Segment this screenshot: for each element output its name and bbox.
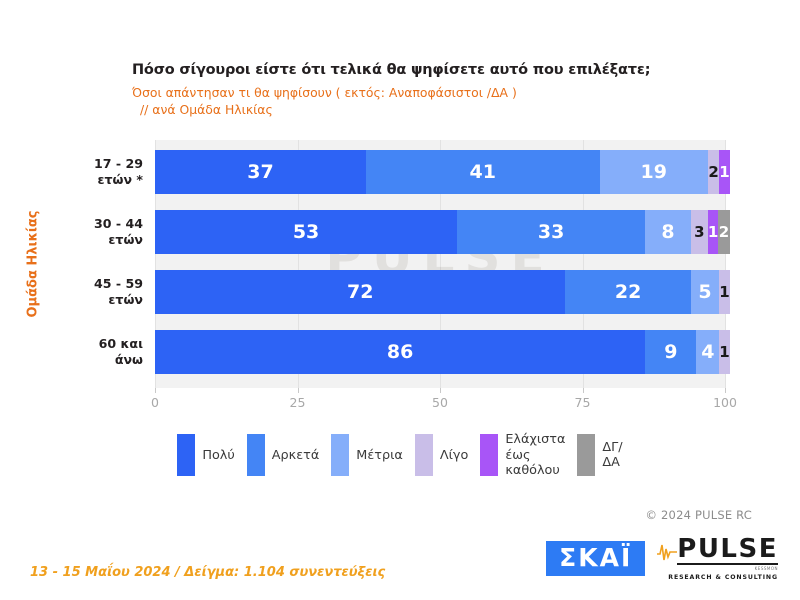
bar-segment-value: 72: [347, 283, 373, 302]
pulse-kessmon-text: KESSMON: [755, 566, 778, 571]
legend-swatch: [247, 434, 265, 476]
chart-legend: ΠολύΑρκετάΜέτριαΛίγοΕλάχιστα έως καθόλου…: [0, 432, 800, 479]
bar-segment[interactable]: 9: [645, 330, 696, 374]
bar-segment-value: 2: [708, 165, 718, 180]
bar-segment-value: 53: [293, 223, 319, 242]
legend-label: Πολύ: [202, 448, 234, 464]
chart-subtitle: Όσοι απάντησαν τι θα ψηφίσουν ( εκτός: Α…: [132, 85, 752, 102]
bar-segment[interactable]: 5: [691, 270, 720, 314]
bar-row: 722251: [155, 270, 725, 314]
bar-segment[interactable]: 33: [457, 210, 645, 254]
plot-area: PULSE RESEARCH & CONSULTING 374119215333…: [155, 140, 725, 388]
bar-segment[interactable]: 37: [155, 150, 366, 194]
legend-label: Ελάχιστα έως καθόλου: [505, 432, 565, 479]
bar-segment-value: 86: [387, 343, 413, 362]
bar-segment-value: 1: [719, 345, 729, 360]
y-axis-category-label: 17 - 29ετών *: [23, 156, 143, 187]
bar-segment-value: 9: [664, 343, 677, 362]
y-axis-category-label: 60 καιάνω: [23, 336, 143, 367]
bar-segment-value: 1: [708, 225, 718, 240]
bar-segment[interactable]: 72: [155, 270, 565, 314]
pulse-wordmark: PULSE: [677, 536, 778, 565]
bar-segment[interactable]: 2: [708, 150, 719, 194]
legend-item[interactable]: Ελάχιστα έως καθόλου: [480, 432, 565, 479]
bar-track: 86941: [155, 330, 725, 374]
title-block: Πόσο σίγουροι είστε ότι τελικά θα ψηφίσε…: [132, 62, 752, 118]
bar-segment-value: 1: [719, 165, 729, 180]
x-tick-label: 0: [151, 395, 159, 410]
legend-item[interactable]: Αρκετά: [247, 434, 319, 476]
pulse-waveform-icon: [657, 538, 677, 564]
bar-segment-value: 19: [641, 163, 667, 182]
legend-swatch: [331, 434, 349, 476]
pulse-logo-main: PULSE: [657, 536, 778, 565]
pulse-tagline: RESEARCH & CONSULTING: [668, 574, 778, 581]
legend-item[interactable]: Λίγο: [415, 434, 469, 476]
bar-segment[interactable]: 1: [719, 330, 729, 374]
bar-segment-value: 33: [538, 223, 564, 242]
bar-segment-value: 5: [698, 283, 711, 302]
x-tick-label: 100: [713, 395, 737, 410]
legend-label: Μέτρια: [356, 448, 403, 464]
y-axis-category-label: 30 - 44ετών: [23, 216, 143, 247]
legend-label: Λίγο: [440, 448, 469, 464]
bar-segment[interactable]: 1: [708, 210, 718, 254]
x-tick-label: 50: [432, 395, 448, 410]
legend-label: Αρκετά: [272, 448, 319, 464]
bar-segment-value: 1: [719, 285, 729, 300]
x-tick-mark: [725, 388, 726, 393]
bar-track: 722251: [155, 270, 725, 314]
bar-segment[interactable]: 19: [600, 150, 708, 194]
bar-track: 37411921: [155, 150, 725, 194]
bar-segment-value: 41: [470, 163, 496, 182]
y-axis-title: Ομάδα Ηλικίας: [26, 169, 41, 359]
bar-segment-value: 8: [661, 223, 674, 242]
bar-segment[interactable]: 22: [565, 270, 690, 314]
legend-label: ΔΓ/ ΔΑ: [602, 440, 622, 471]
page-title: Πόσο σίγουροι είστε ότι τελικά θα ψηφίσε…: [132, 62, 752, 78]
y-axis-labels: Ομάδα Ηλικίας 17 - 29ετών *30 - 44ετών45…: [0, 140, 155, 388]
bar-segment[interactable]: 2: [718, 210, 729, 254]
pulse-logo: PULSE KESSMON RESEARCH & CONSULTING: [657, 536, 778, 581]
bar-segment[interactable]: 86: [155, 330, 645, 374]
legend-swatch: [177, 434, 195, 476]
y-axis-category-label: 45 - 59ετών: [23, 276, 143, 307]
chart-container: Ομάδα Ηλικίας 17 - 29ετών *30 - 44ετών45…: [0, 140, 800, 410]
bar-segment-value: 2: [719, 225, 729, 240]
bar-segment-value: 37: [247, 163, 273, 182]
bar-track: 53338312: [155, 210, 725, 254]
bar-row: 86941: [155, 330, 725, 374]
bar-segment[interactable]: 1: [719, 150, 729, 194]
x-tick-mark: [298, 388, 299, 393]
bar-segment[interactable]: 8: [645, 210, 691, 254]
logo-group: ΣΚΑΪ PULSE KESSMON RESEARCH & CONSULTING: [546, 536, 778, 581]
legend-item[interactable]: Πολύ: [177, 434, 234, 476]
legend-item[interactable]: ΔΓ/ ΔΑ: [577, 434, 622, 476]
x-tick-mark: [583, 388, 584, 393]
bar-segment[interactable]: 41: [366, 150, 600, 194]
x-tick-label: 75: [575, 395, 591, 410]
legend-swatch: [577, 434, 595, 476]
bar-row: 37411921: [155, 150, 725, 194]
survey-info-text: 13 - 15 Μαΐου 2024 / Δείγμα: 1.104 συνεν…: [30, 565, 385, 580]
bar-segment[interactable]: 1: [719, 270, 729, 314]
chart-subtitle-secondary: // ανά Ομάδα Ηλικίας: [132, 102, 752, 119]
legend-swatch: [415, 434, 433, 476]
bar-segment-value: 22: [615, 283, 641, 302]
legend-swatch: [480, 434, 498, 476]
skai-logo: ΣΚΑΪ: [546, 541, 645, 576]
bar-segment[interactable]: 4: [696, 330, 719, 374]
bar-segment[interactable]: 3: [691, 210, 708, 254]
x-tick-label: 25: [290, 395, 306, 410]
bar-segment-value: 4: [701, 343, 714, 362]
x-axis: 0255075100: [155, 388, 725, 414]
bar-segment-value: 3: [694, 225, 704, 240]
bar-segment[interactable]: 53: [155, 210, 457, 254]
copyright-text: © 2024 PULSE RC: [645, 508, 752, 522]
legend-item[interactable]: Μέτρια: [331, 434, 403, 476]
x-tick-mark: [155, 388, 156, 393]
x-tick-mark: [440, 388, 441, 393]
bar-row: 53338312: [155, 210, 725, 254]
